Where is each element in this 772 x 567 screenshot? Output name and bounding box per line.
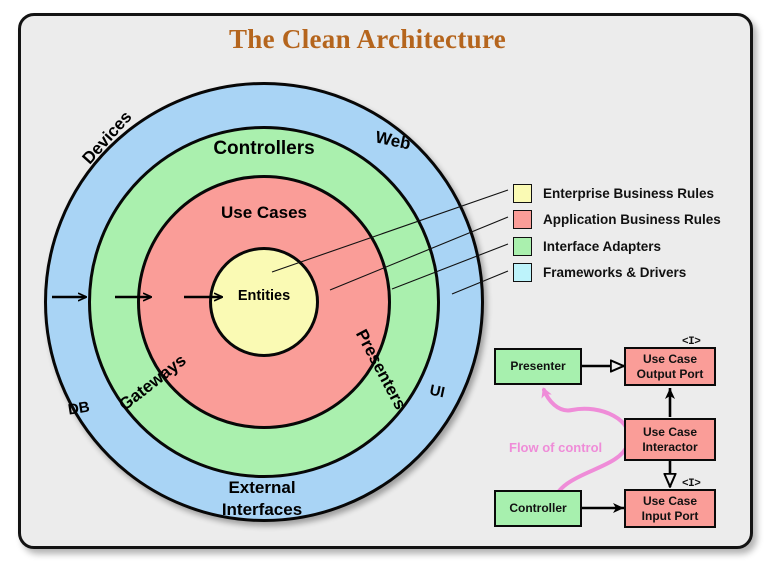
uml-box-use-case-input-port[interactable]: Use Case Input Port — [624, 489, 716, 528]
legend-label-adapters: Interface Adapters — [543, 239, 661, 254]
legend-label-frameworks: Frameworks & Drivers — [543, 265, 686, 280]
legend-item-interface-adapters[interactable]: Interface Adapters — [513, 233, 758, 260]
legend-swatch-application — [513, 210, 532, 229]
legend: Enterprise Business Rules Application Bu… — [513, 180, 758, 286]
legend-label-application: Application Business Rules — [543, 212, 721, 227]
diagram-canvas: The Clean Architecture Devices Web Contr… — [0, 0, 772, 567]
uml-box-input-port-line2: Input Port — [642, 509, 699, 523]
legend-swatch-enterprise — [513, 184, 532, 203]
uml-box-presenter-label: Presenter — [510, 359, 565, 373]
uml-box-interactor-line1: Use Case — [643, 425, 697, 439]
interface-stereotype-output-port: <I> — [682, 336, 700, 348]
legend-item-frameworks-drivers[interactable]: Frameworks & Drivers — [513, 260, 758, 287]
uml-box-controller-label: Controller — [509, 501, 566, 515]
uml-box-interactor-line2: Interactor — [642, 440, 697, 454]
uml-box-use-case-output-port[interactable]: Use Case Output Port — [624, 347, 716, 386]
interface-stereotype-input-port: <I> — [682, 478, 700, 490]
uml-box-input-port-line1: Use Case — [643, 494, 697, 508]
uml-box-output-port-line1: Use Case — [643, 352, 697, 366]
flow-of-control-label: Flow of control — [509, 440, 602, 455]
legend-label-enterprise: Enterprise Business Rules — [543, 186, 714, 201]
uml-box-presenter[interactable]: Presenter — [494, 348, 582, 385]
uml-box-use-case-interactor[interactable]: Use Case Interactor — [624, 418, 716, 461]
uml-box-controller[interactable]: Controller — [494, 490, 582, 527]
legend-swatch-frameworks — [513, 263, 532, 282]
legend-leader-lines — [272, 190, 508, 294]
legend-item-enterprise-business-rules[interactable]: Enterprise Business Rules — [513, 180, 758, 207]
legend-swatch-adapters — [513, 237, 532, 256]
uml-box-output-port-line2: Output Port — [637, 367, 704, 381]
legend-item-application-business-rules[interactable]: Application Business Rules — [513, 207, 758, 234]
